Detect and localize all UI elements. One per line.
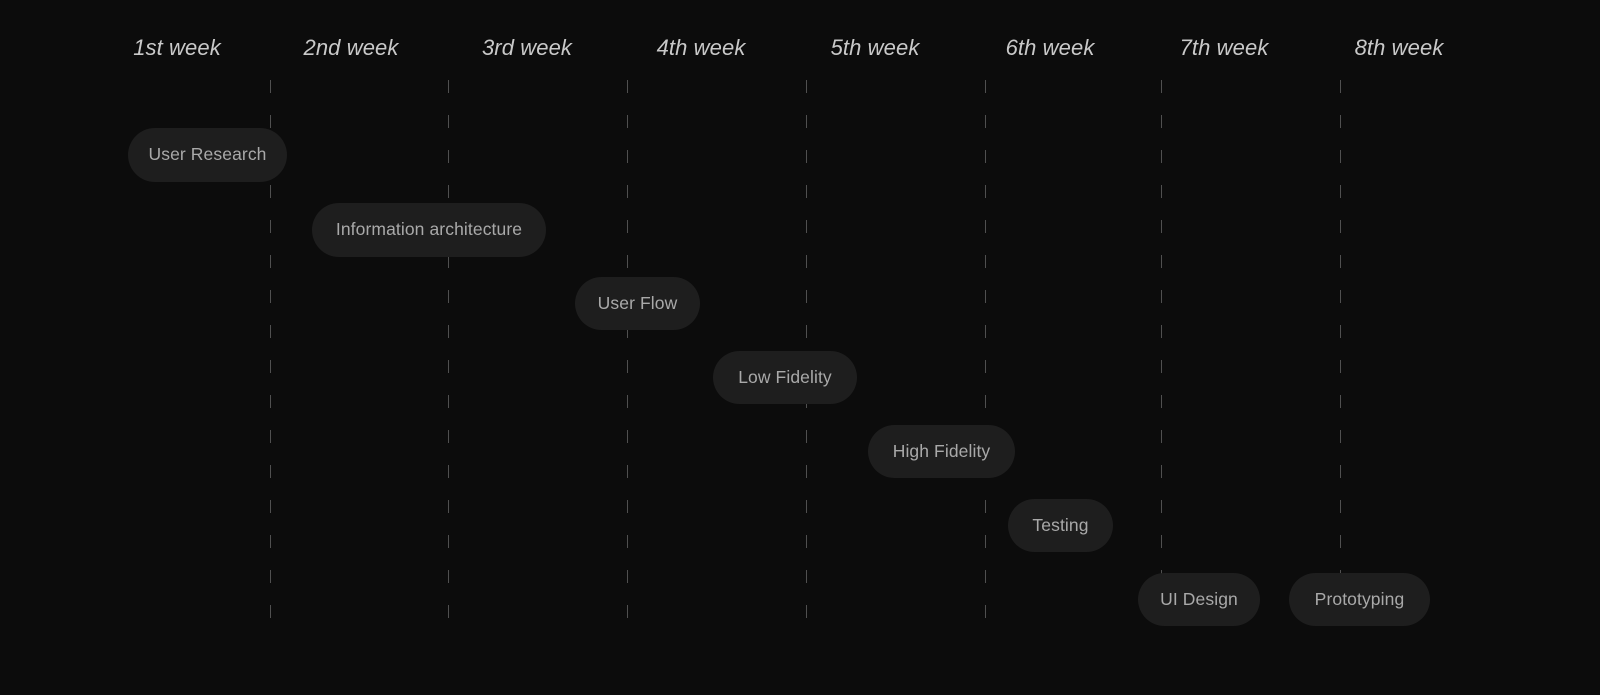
task-bar[interactable]: Information architecture bbox=[312, 203, 546, 257]
timeline-task-bars: User ResearchInformation architectureUse… bbox=[0, 0, 1600, 695]
task-bar-label: Information architecture bbox=[336, 221, 522, 239]
task-bar[interactable]: High Fidelity bbox=[868, 425, 1015, 478]
task-bar[interactable]: UI Design bbox=[1138, 573, 1260, 626]
task-bar-label: User Flow bbox=[598, 295, 678, 313]
task-bar[interactable]: User Flow bbox=[575, 277, 700, 330]
task-bar[interactable]: Testing bbox=[1008, 499, 1113, 552]
task-bar-label: Low Fidelity bbox=[738, 369, 832, 387]
task-bar-label: Testing bbox=[1032, 517, 1088, 535]
task-bar-label: UI Design bbox=[1160, 591, 1238, 609]
task-bar[interactable]: Low Fidelity bbox=[713, 351, 857, 404]
task-bar-label: User Research bbox=[149, 146, 267, 164]
task-bar[interactable]: Prototyping bbox=[1289, 573, 1430, 626]
project-timeline-gantt: 1st week2nd week3rd week4th week5th week… bbox=[0, 0, 1600, 695]
task-bar-label: High Fidelity bbox=[893, 443, 991, 461]
task-bar-label: Prototyping bbox=[1315, 591, 1405, 609]
task-bar[interactable]: User Research bbox=[128, 128, 287, 182]
